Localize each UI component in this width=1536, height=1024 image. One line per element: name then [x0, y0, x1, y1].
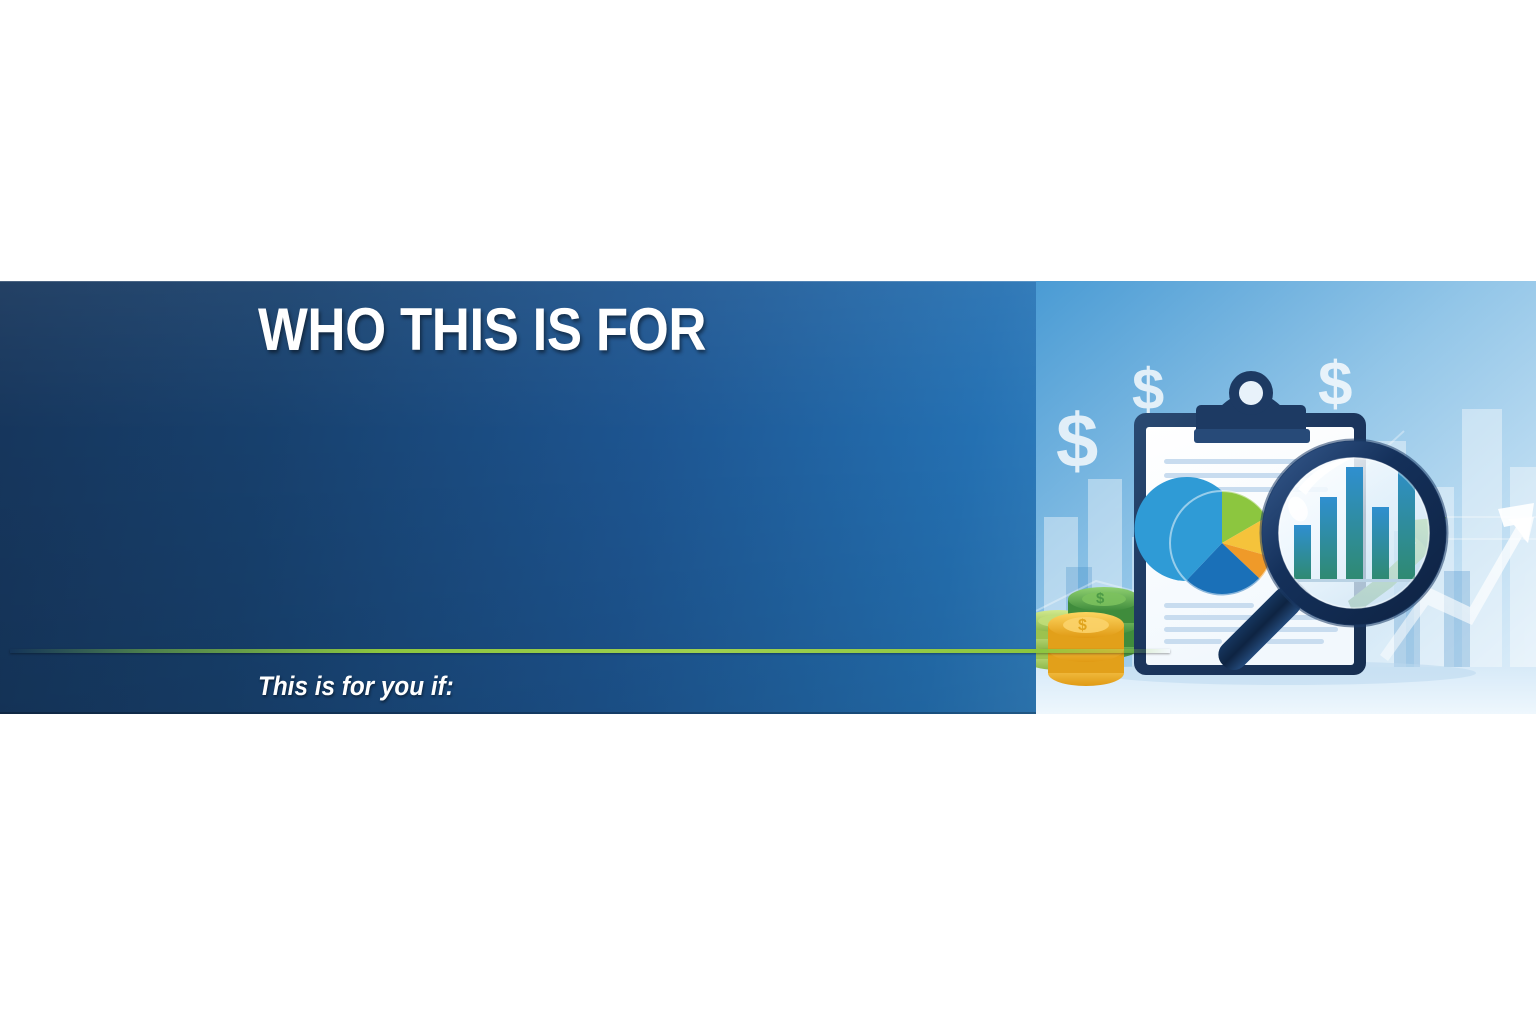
svg-text:$: $	[1056, 399, 1098, 484]
green-divider-wrap	[0, 649, 1536, 654]
green-divider	[10, 649, 1170, 653]
svg-text:$: $	[1078, 617, 1087, 634]
banner-text-column: WHO THIS IS FOR	[258, 297, 1058, 363]
page-title: WHO THIS IS FOR	[258, 297, 962, 363]
svg-text:$: $	[1132, 357, 1164, 422]
page-canvas: $ $ $	[0, 0, 1536, 1024]
svg-text:$: $	[1318, 350, 1352, 419]
subheading: This is for you if:	[258, 669, 454, 703]
who-this-is-for-banner: $ $ $	[0, 281, 1536, 714]
svg-text:$: $	[1096, 590, 1105, 607]
